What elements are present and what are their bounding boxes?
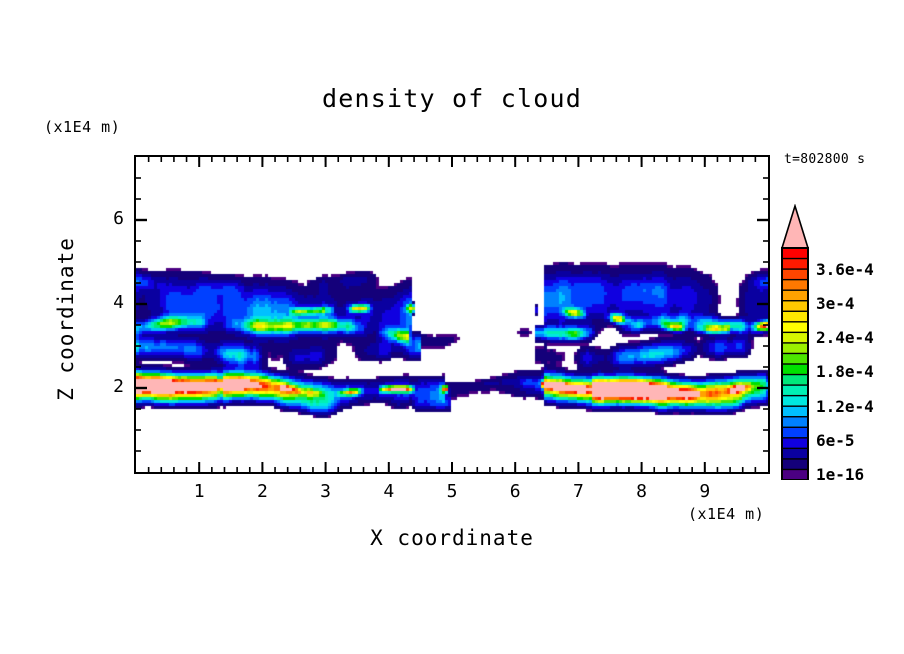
x-axis-title: X coordinate [134, 526, 770, 550]
x-axis-unit-label: (x1E4 m) [688, 505, 764, 523]
x-tick-label: 8 [622, 481, 662, 502]
colorbar-tick-label: 1.2e-4 [816, 397, 874, 416]
x-tick-label: 1 [179, 481, 219, 502]
contour-field [136, 157, 768, 472]
y-tick-label: 6 [84, 208, 124, 229]
timestamp-label: t=802800 s [784, 152, 865, 167]
colorbar-tick-label: 1.8e-4 [816, 362, 874, 381]
colorbar [778, 204, 812, 480]
colorbar-tick-label: 3.6e-4 [816, 260, 874, 279]
y-tick-label: 2 [84, 376, 124, 397]
x-tick-label: 9 [685, 481, 725, 502]
colorbar-bands [778, 204, 812, 480]
colorbar-tick-label: 2.4e-4 [816, 328, 874, 347]
x-tick-label: 4 [369, 481, 409, 502]
colorbar-tick-label: 3e-4 [816, 294, 855, 313]
x-tick-label: 5 [432, 481, 472, 502]
y-tick-label: 4 [84, 292, 124, 313]
x-tick-label: 2 [242, 481, 282, 502]
colorbar-tick-label: 6e-5 [816, 431, 855, 450]
x-tick-label: 3 [306, 481, 346, 502]
x-tick-label: 7 [558, 481, 598, 502]
contour-plot-figure: density of cloud (x1E4 m) (x1E4 m) X coo… [0, 0, 904, 654]
y-axis-title: Z coordinate [54, 209, 78, 429]
plot-frame [134, 155, 770, 474]
page-title: density of cloud [0, 84, 904, 113]
x-tick-label: 6 [495, 481, 535, 502]
y-axis-unit-label: (x1E4 m) [44, 118, 120, 136]
colorbar-tick-label: 1e-16 [816, 465, 864, 484]
